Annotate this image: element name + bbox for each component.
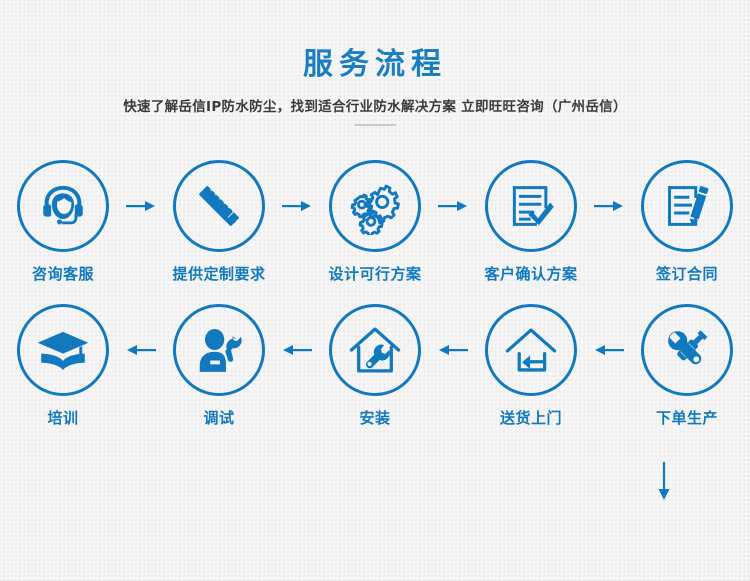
flow-step-sign-contract[interactable]: 签订合同 bbox=[628, 160, 746, 284]
flow-arrow-left bbox=[278, 304, 316, 396]
flow-step-label: 提供定制要求 bbox=[172, 263, 265, 284]
flow-step-label: 培训 bbox=[47, 407, 78, 428]
flow-step-circle bbox=[173, 304, 265, 396]
flow-row-2: 培训 调试 bbox=[0, 304, 750, 428]
document-check-icon bbox=[503, 178, 559, 234]
flow-arrow-left bbox=[434, 304, 472, 396]
flow-step-consult[interactable]: 咨询客服 bbox=[4, 160, 122, 284]
page-title: 服务流程 bbox=[0, 48, 750, 81]
flow-arrow-left bbox=[122, 304, 160, 396]
flow-step-circle bbox=[173, 160, 265, 252]
flow-arrow-right bbox=[122, 160, 160, 252]
flow-row-1: 咨询客服 bbox=[0, 160, 750, 284]
flow-arrow-right bbox=[434, 160, 472, 252]
house-delivery-arrow-icon bbox=[502, 321, 560, 379]
document-pencil-icon bbox=[659, 178, 715, 234]
flow-step-installation[interactable]: 安装 bbox=[316, 304, 434, 428]
graduation-cap-book-icon bbox=[34, 321, 92, 379]
flow-step-circle bbox=[17, 160, 109, 252]
flow-step-home-delivery[interactable]: 送货上门 bbox=[472, 304, 590, 428]
page-header: 服务流程 快速了解岳信IP防水防尘，找到适合行业防水解决方案 立即旺旺咨询（广州… bbox=[0, 0, 750, 126]
pen-ruler-icon bbox=[191, 178, 247, 234]
flow-step-circle bbox=[485, 304, 577, 396]
flow-diagram: 咨询客服 bbox=[0, 160, 750, 428]
flow-step-customer-confirm[interactable]: 客户确认方案 bbox=[472, 160, 590, 284]
flow-step-debugging[interactable]: 调试 bbox=[160, 304, 278, 428]
flow-step-place-order-production[interactable]: 下单生产 bbox=[628, 304, 746, 428]
flow-step-label: 下单生产 bbox=[656, 407, 718, 428]
flow-step-label: 调试 bbox=[203, 407, 234, 428]
flow-step-training[interactable]: 培训 bbox=[4, 304, 122, 428]
service-process-page: 服务流程 快速了解岳信IP防水防尘，找到适合行业防水解决方案 立即旺旺咨询（广州… bbox=[0, 0, 750, 581]
flow-step-label: 咨询客服 bbox=[32, 263, 94, 284]
flow-step-circle bbox=[329, 160, 421, 252]
flow-step-label: 安装 bbox=[359, 407, 390, 428]
flow-step-circle bbox=[641, 160, 733, 252]
flow-arrow-left bbox=[590, 304, 628, 396]
flow-arrow-right bbox=[590, 160, 628, 252]
wrench-screwdriver-icon bbox=[659, 322, 715, 378]
flow-step-design-solution[interactable]: 设计可行方案 bbox=[316, 160, 434, 284]
flow-step-custom-requirements[interactable]: 提供定制要求 bbox=[160, 160, 278, 284]
gears-icon bbox=[346, 177, 404, 235]
page-subtitle: 快速了解岳信IP防水防尘，找到适合行业防水解决方案 立即旺旺咨询（广州岳信） bbox=[0, 95, 750, 115]
flow-step-circle bbox=[17, 304, 109, 396]
flow-step-label: 签订合同 bbox=[656, 263, 718, 284]
technician-wrench-icon bbox=[191, 322, 247, 378]
flow-step-circle bbox=[329, 304, 421, 396]
headset-operator-icon bbox=[35, 178, 91, 234]
title-divider bbox=[354, 124, 396, 126]
flow-step-label: 客户确认方案 bbox=[484, 263, 577, 284]
flow-arrow-right bbox=[278, 160, 316, 252]
house-wrench-icon bbox=[346, 321, 404, 379]
flow-step-circle bbox=[485, 160, 577, 252]
flow-connector-down bbox=[650, 460, 678, 504]
flow-step-circle bbox=[641, 304, 733, 396]
flow-step-label: 送货上门 bbox=[500, 407, 562, 428]
flow-step-label: 设计可行方案 bbox=[328, 263, 421, 284]
